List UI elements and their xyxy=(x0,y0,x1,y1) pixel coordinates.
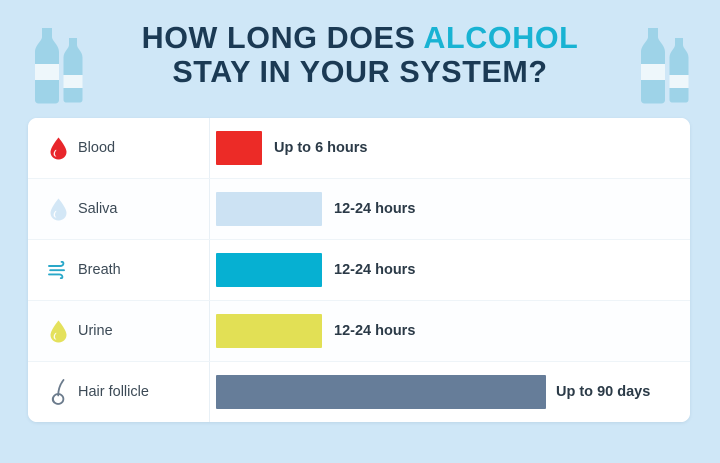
title-prefix: HOW LONG DOES xyxy=(142,21,424,55)
blood-drop-icon xyxy=(44,137,72,160)
table-row: Blood Up to 6 hours xyxy=(28,118,690,179)
row-label: Breath xyxy=(78,262,121,278)
urine-drop-icon xyxy=(44,320,72,343)
duration-bar xyxy=(216,253,322,287)
page-title: HOW LONG DOES ALCOHOL STAY IN YOUR SYSTE… xyxy=(142,21,579,89)
title-line-2: STAY IN YOUR SYSTEM? xyxy=(142,55,579,89)
results-card: Blood Up to 6 hours Saliva 12-24 hours xyxy=(28,118,690,422)
row-label: Hair follicle xyxy=(78,384,149,400)
row-bar-cell: 12-24 hours xyxy=(210,240,690,300)
duration-label: Up to 6 hours xyxy=(274,140,367,156)
duration-bar xyxy=(216,192,322,226)
row-label-cell: Blood xyxy=(28,118,210,178)
table-row: Saliva 12-24 hours xyxy=(28,179,690,240)
title-line-1: HOW LONG DOES ALCOHOL xyxy=(142,21,579,55)
row-bar-cell: 12-24 hours xyxy=(210,301,690,361)
bottles-icon-left xyxy=(26,24,88,109)
row-bar-cell: Up to 90 days xyxy=(210,362,690,422)
duration-bar xyxy=(216,375,546,409)
table-row: Hair follicle Up to 90 days xyxy=(28,362,690,422)
duration-label: 12-24 hours xyxy=(334,323,415,339)
duration-label: 12-24 hours xyxy=(334,201,415,217)
duration-label: Up to 90 days xyxy=(556,384,650,400)
row-label: Saliva xyxy=(78,201,118,217)
saliva-drop-icon xyxy=(44,198,72,221)
row-label-cell: Saliva xyxy=(28,179,210,239)
row-bar-cell: 12-24 hours xyxy=(210,179,690,239)
header: HOW LONG DOES ALCOHOL STAY IN YOUR SYSTE… xyxy=(0,0,720,110)
title-accent-word: ALCOHOL xyxy=(423,21,578,55)
duration-bar xyxy=(216,131,262,165)
row-label: Urine xyxy=(78,323,113,339)
row-label-cell: Urine xyxy=(28,301,210,361)
wind-breath-icon xyxy=(44,261,72,279)
row-bar-cell: Up to 6 hours xyxy=(210,118,690,178)
row-label: Blood xyxy=(78,140,115,156)
hair-follicle-icon xyxy=(44,379,72,405)
row-label-cell: Breath xyxy=(28,240,210,300)
table-row: Urine 12-24 hours xyxy=(28,301,690,362)
duration-label: 12-24 hours xyxy=(334,262,415,278)
duration-bar xyxy=(216,314,322,348)
bottles-icon-right xyxy=(632,24,694,109)
row-label-cell: Hair follicle xyxy=(28,362,210,422)
table-row: Breath 12-24 hours xyxy=(28,240,690,301)
